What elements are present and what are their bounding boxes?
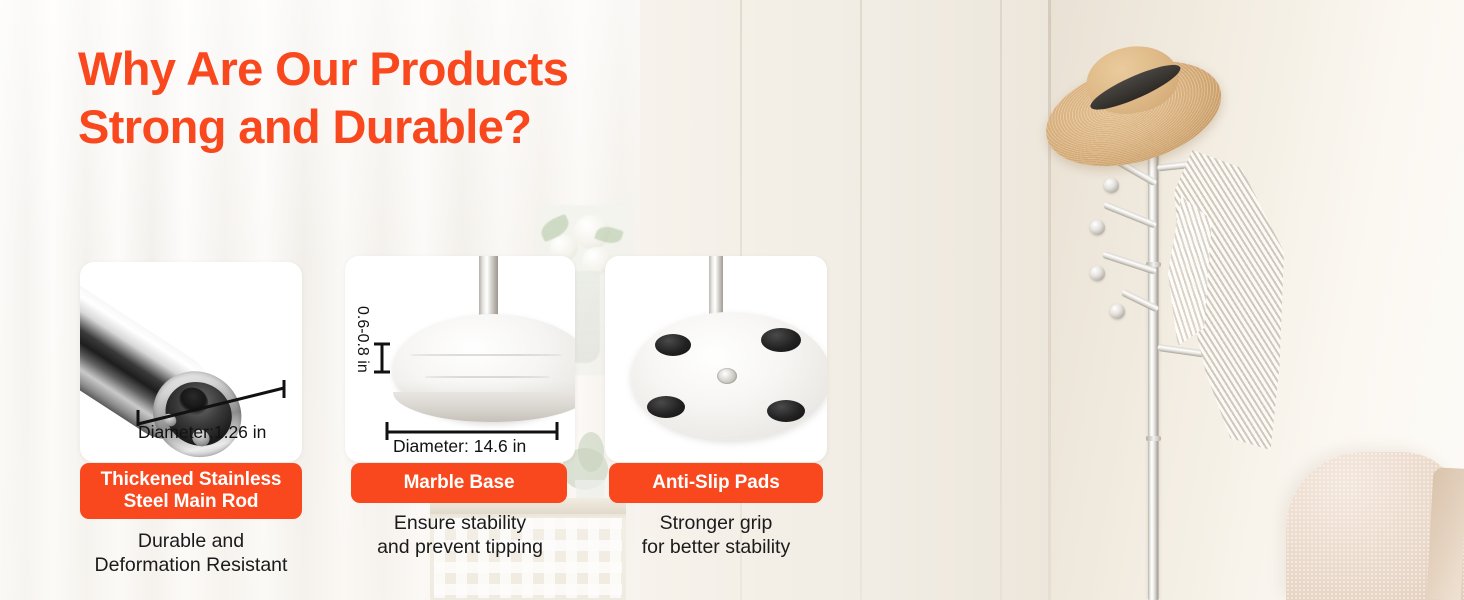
- card2-thickness-label: 0.6-0.8 in: [353, 306, 371, 373]
- anti-slip-pad: [761, 328, 801, 352]
- card2-badge[interactable]: Marble Base: [351, 463, 567, 503]
- marble-edge: [393, 392, 575, 422]
- card3-badge[interactable]: Anti-Slip Pads: [609, 463, 823, 503]
- feature-card-group: Diameter:1.26 in Thickened Stainless Ste…: [0, 0, 1464, 600]
- diameter-dimension-line: [132, 380, 296, 426]
- card-photo-marble-base: 0.6-0.8 in Diameter: 14.6 in: [345, 256, 575, 462]
- product-feature-banner: Why Are Our Products Strong and Durable?: [0, 0, 1464, 600]
- card2-caption: Ensure stability and prevent tipping: [337, 512, 583, 560]
- anti-slip-pad: [655, 334, 691, 356]
- center-screw: [717, 368, 737, 384]
- card1-badge[interactable]: Thickened Stainless Steel Main Rod: [80, 463, 302, 519]
- card-photo-chrome-tube: Diameter:1.26 in: [80, 262, 302, 462]
- card1-dimension-label: Diameter:1.26 in: [138, 422, 266, 443]
- card2-dimension-label: Diameter: 14.6 in: [393, 436, 526, 457]
- anti-slip-pad: [767, 400, 805, 422]
- thickness-marker: [373, 340, 391, 376]
- anti-slip-pad: [647, 396, 685, 418]
- card-photo-anti-slip-pads: [605, 256, 827, 462]
- card3-caption: Stronger grip for better stability: [597, 512, 835, 560]
- card1-caption: Durable and Deformation Resistant: [70, 530, 312, 578]
- base-underside-disc: [631, 312, 827, 440]
